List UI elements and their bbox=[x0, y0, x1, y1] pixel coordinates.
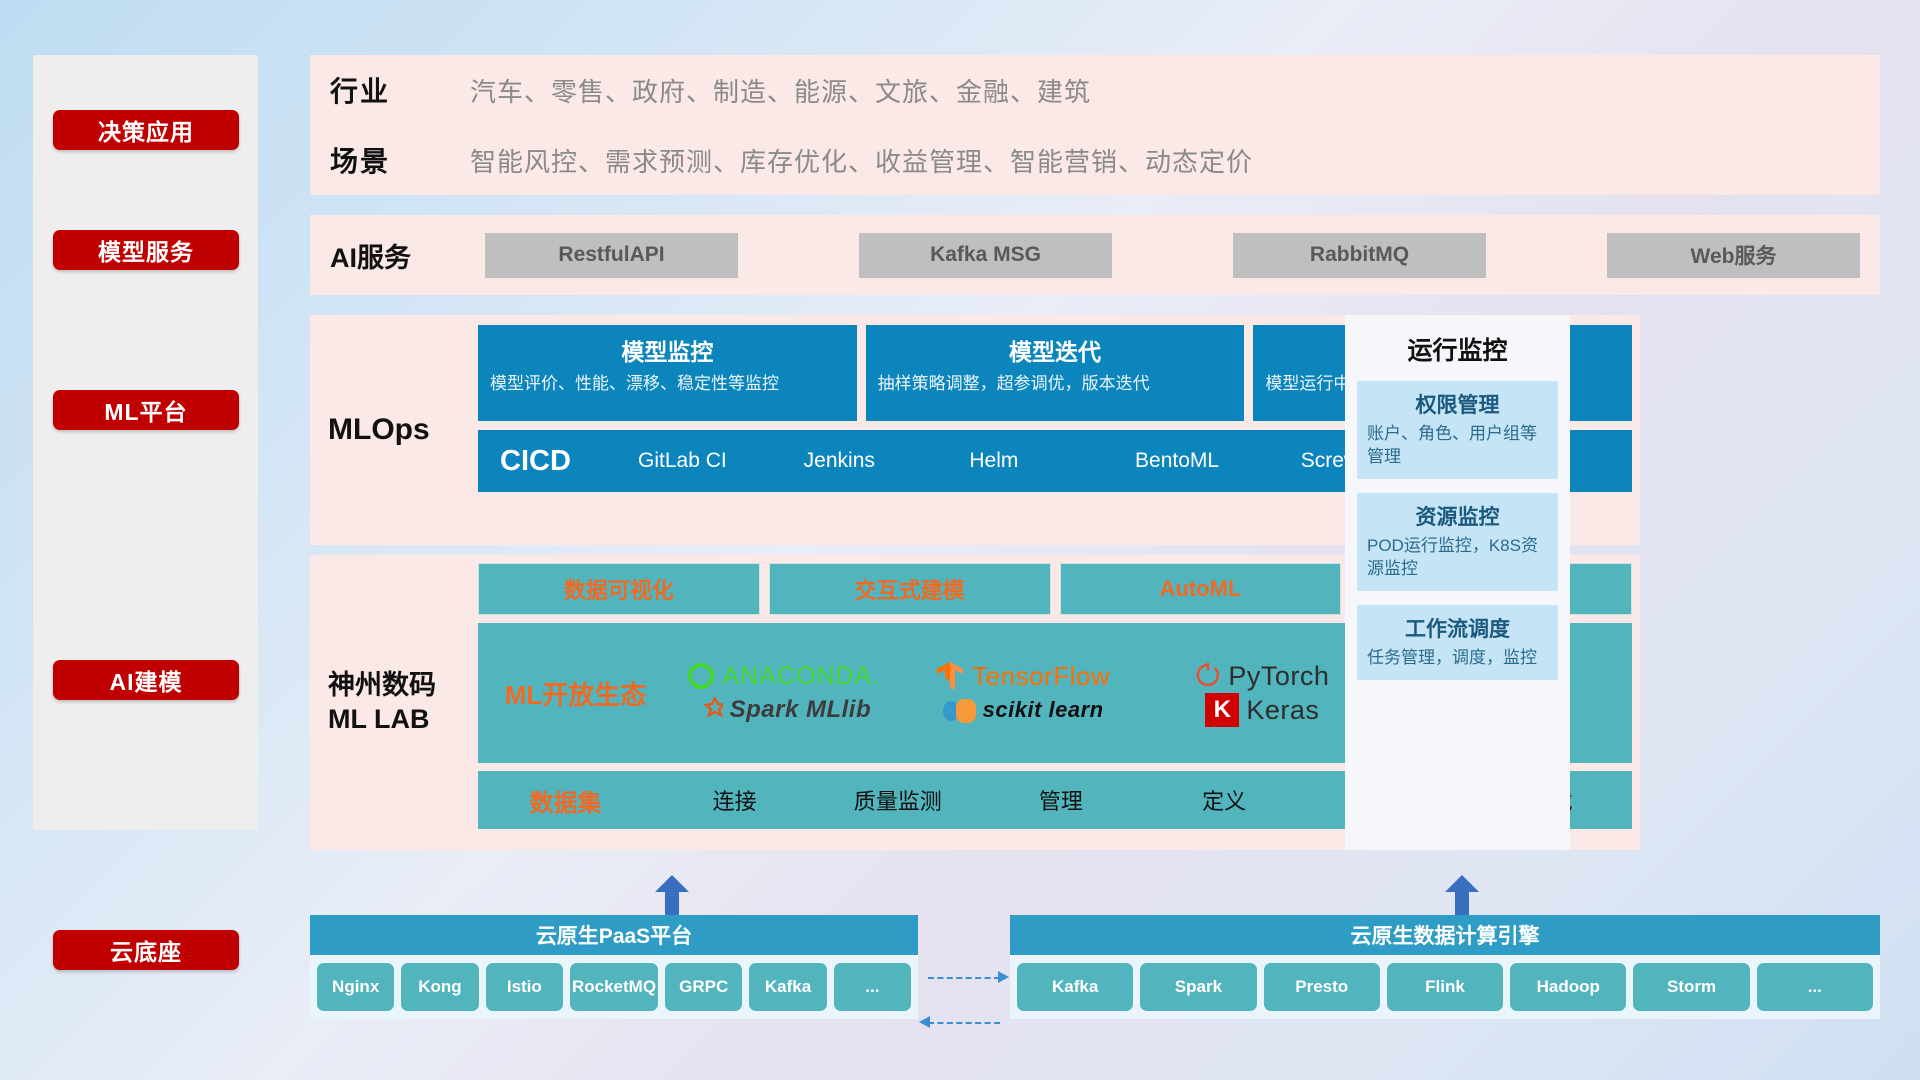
cicd-label: CICD bbox=[500, 445, 638, 478]
engine-tile-flink[interactable]: Flink bbox=[1387, 963, 1503, 1011]
cicd-item-jenkins[interactable]: Jenkins bbox=[804, 450, 970, 472]
industry-label: 行业 bbox=[330, 70, 470, 110]
keras-label: Keras bbox=[1246, 695, 1319, 726]
card-desc: 账户、角色、用户组等管理 bbox=[1367, 423, 1548, 469]
layer-rail: 决策应用 模型服务 ML平台 AI建模 bbox=[33, 55, 258, 830]
rail-item-cloud-base[interactable]: 云底座 bbox=[53, 930, 239, 970]
ai-service-rabbitmq[interactable]: RabbitMQ bbox=[1233, 233, 1486, 278]
ai-service-kafka-msg[interactable]: Kafka MSG bbox=[859, 233, 1112, 278]
paas-tile-rocketmq[interactable]: RocketMQ bbox=[570, 963, 658, 1011]
engine-tile-storm[interactable]: Storm bbox=[1633, 963, 1749, 1011]
run-monitoring-title: 运行监控 bbox=[1345, 315, 1570, 367]
arrow-head-right-icon bbox=[998, 971, 1009, 983]
ml-lab-line1: 神州数码 bbox=[328, 670, 436, 700]
rail-item-decision-app[interactable]: 决策应用 bbox=[53, 110, 239, 150]
scenario-label: 场景 bbox=[330, 140, 470, 180]
tensorflow-icon bbox=[935, 660, 965, 692]
card-desc: 任务管理，调度，监控 bbox=[1367, 647, 1548, 670]
card-title: 模型监控 bbox=[490, 333, 845, 367]
ml-lab-label: 神州数码 ML LAB bbox=[310, 555, 478, 850]
arrow-engine-to-paas bbox=[928, 1022, 1000, 1024]
arrow-up-data-engine-icon bbox=[1445, 875, 1479, 917]
monitoring-card-workflow[interactable]: 工作流调度 任务管理，调度，监控 bbox=[1357, 605, 1558, 680]
cicd-item-bentoml[interactable]: BentoML bbox=[1135, 450, 1301, 472]
ai-service-web[interactable]: Web服务 bbox=[1607, 233, 1860, 278]
paas-tile-more[interactable]: ... bbox=[834, 963, 911, 1011]
card-desc: 模型评价、性能、漂移、稳定性等监控 bbox=[490, 373, 845, 396]
scikit-learn-icon bbox=[942, 695, 976, 725]
paas-tile-kafka[interactable]: Kafka bbox=[749, 963, 826, 1011]
pytorch-logo: PyTorch bbox=[1195, 661, 1329, 692]
card-desc: POD运行监控，K8S资源监控 bbox=[1367, 535, 1548, 581]
industry-value: 汽车、零售、政府、制造、能源、文旅、金融、建筑 bbox=[470, 72, 1091, 109]
dataset-item-manage[interactable]: 管理 bbox=[979, 784, 1142, 816]
monitoring-card-permission[interactable]: 权限管理 账户、角色、用户组等管理 bbox=[1357, 381, 1558, 479]
cloud-native-data-engine-box: 云原生数据计算引擎 Kafka Spark Presto Flink Hadoo… bbox=[1010, 915, 1880, 1019]
mlops-card-model-iteration[interactable]: 模型迭代 抽样策略调整，超参调优，版本迭代 bbox=[866, 325, 1245, 421]
scenario-row: 场景 智能风控、需求预测、库存优化、收益管理、智能营销、动态定价 bbox=[310, 125, 1880, 195]
keras-logo: K Keras bbox=[1205, 693, 1319, 727]
rail-item-ai-modeling[interactable]: AI建模 bbox=[53, 660, 239, 700]
model-service-band: AI服务 RestfulAPI Kafka MSG RabbitMQ Web服务 bbox=[310, 215, 1880, 295]
paas-tile-kong[interactable]: Kong bbox=[401, 963, 478, 1011]
tool-automl[interactable]: AutoML bbox=[1060, 563, 1342, 615]
ai-service-restfulapi[interactable]: RestfulAPI bbox=[485, 233, 738, 278]
architecture-diagram: 决策应用 模型服务 ML平台 AI建模 云底座 行业 汽车、零售、政府、制造、能… bbox=[0, 0, 1920, 1080]
mlops-card-model-monitoring[interactable]: 模型监控 模型评价、性能、漂移、稳定性等监控 bbox=[478, 325, 857, 421]
tensorflow-label: TensorFlow bbox=[972, 661, 1110, 692]
scenario-value: 智能风控、需求预测、库存优化、收益管理、智能营销、动态定价 bbox=[470, 142, 1253, 179]
tool-data-visualization[interactable]: 数据可视化 bbox=[478, 563, 760, 615]
decision-application-band: 行业 汽车、零售、政府、制造、能源、文旅、金融、建筑 场景 智能风控、需求预测、… bbox=[310, 55, 1880, 195]
tool-interactive-modeling[interactable]: 交互式建模 bbox=[769, 563, 1051, 615]
run-monitoring-panel: 运行监控 权限管理 账户、角色、用户组等管理 资源监控 POD运行监控，K8S资… bbox=[1345, 315, 1570, 850]
ai-service-label: AI服务 bbox=[310, 236, 485, 275]
engine-tile-kafka[interactable]: Kafka bbox=[1017, 963, 1133, 1011]
card-title: 工作流调度 bbox=[1367, 613, 1548, 643]
rail-item-ml-platform[interactable]: ML平台 bbox=[53, 390, 239, 430]
spark-mllib-logo: Spark MLlib bbox=[695, 696, 872, 724]
paas-tile-grpc[interactable]: GRPC bbox=[665, 963, 742, 1011]
dataset-item-connect[interactable]: 连接 bbox=[653, 784, 816, 816]
card-desc: 抽样策略调整，超参调优，版本迭代 bbox=[878, 373, 1233, 396]
engine-tile-more[interactable]: ... bbox=[1757, 963, 1873, 1011]
pytorch-icon bbox=[1195, 661, 1221, 691]
paas-title: 云原生PaaS平台 bbox=[310, 915, 918, 955]
arrow-head-left-icon bbox=[919, 1016, 930, 1028]
tensorflow-logo: TensorFlow bbox=[935, 660, 1110, 692]
cicd-item-gitlab-ci[interactable]: GitLab CI bbox=[638, 450, 804, 472]
anaconda-label: ANACONDA. bbox=[723, 662, 881, 691]
ml-ecosystem-title: ML开放生态 bbox=[488, 675, 663, 712]
dataset-item-define[interactable]: 定义 bbox=[1143, 784, 1306, 816]
arrow-up-paas-icon bbox=[655, 875, 689, 917]
engine-tile-hadoop[interactable]: Hadoop bbox=[1510, 963, 1626, 1011]
mlops-label: MLOps bbox=[310, 315, 478, 545]
industry-row: 行业 汽车、零售、政府、制造、能源、文旅、金融、建筑 bbox=[310, 55, 1880, 125]
arrow-paas-to-engine bbox=[928, 977, 1000, 979]
scikit-learn-logo: scikit learn bbox=[942, 695, 1104, 725]
data-engine-title: 云原生数据计算引擎 bbox=[1010, 915, 1880, 955]
anaconda-icon bbox=[686, 661, 716, 691]
spark-star-icon bbox=[695, 697, 723, 723]
engine-tile-presto[interactable]: Presto bbox=[1264, 963, 1380, 1011]
ml-lab-line2: ML LAB bbox=[328, 704, 430, 734]
monitoring-card-resource[interactable]: 资源监控 POD运行监控，K8S资源监控 bbox=[1357, 493, 1558, 591]
cloud-native-paas-box: 云原生PaaS平台 Nginx Kong Istio RocketMQ GRPC… bbox=[310, 915, 918, 1019]
anaconda-logo: ANACONDA. bbox=[686, 661, 881, 691]
spark-mllib-label: Spark MLlib bbox=[730, 696, 872, 724]
cloud-base-section: 云原生PaaS平台 Nginx Kong Istio RocketMQ GRPC… bbox=[310, 885, 1880, 1055]
card-title: 模型迭代 bbox=[878, 333, 1233, 367]
cicd-item-helm[interactable]: Helm bbox=[969, 450, 1135, 472]
scikit-learn-label: scikit learn bbox=[983, 697, 1104, 723]
paas-tile-nginx[interactable]: Nginx bbox=[317, 963, 394, 1011]
rail-item-model-service[interactable]: 模型服务 bbox=[53, 230, 239, 270]
pytorch-label: PyTorch bbox=[1228, 661, 1329, 692]
card-title: 资源监控 bbox=[1367, 501, 1548, 531]
dataset-label: 数据集 bbox=[478, 783, 653, 818]
paas-tile-istio[interactable]: Istio bbox=[486, 963, 563, 1011]
dataset-item-quality[interactable]: 质量监测 bbox=[816, 784, 979, 816]
card-title: 权限管理 bbox=[1367, 389, 1548, 419]
engine-tile-spark[interactable]: Spark bbox=[1140, 963, 1256, 1011]
keras-k-icon: K bbox=[1205, 693, 1239, 727]
